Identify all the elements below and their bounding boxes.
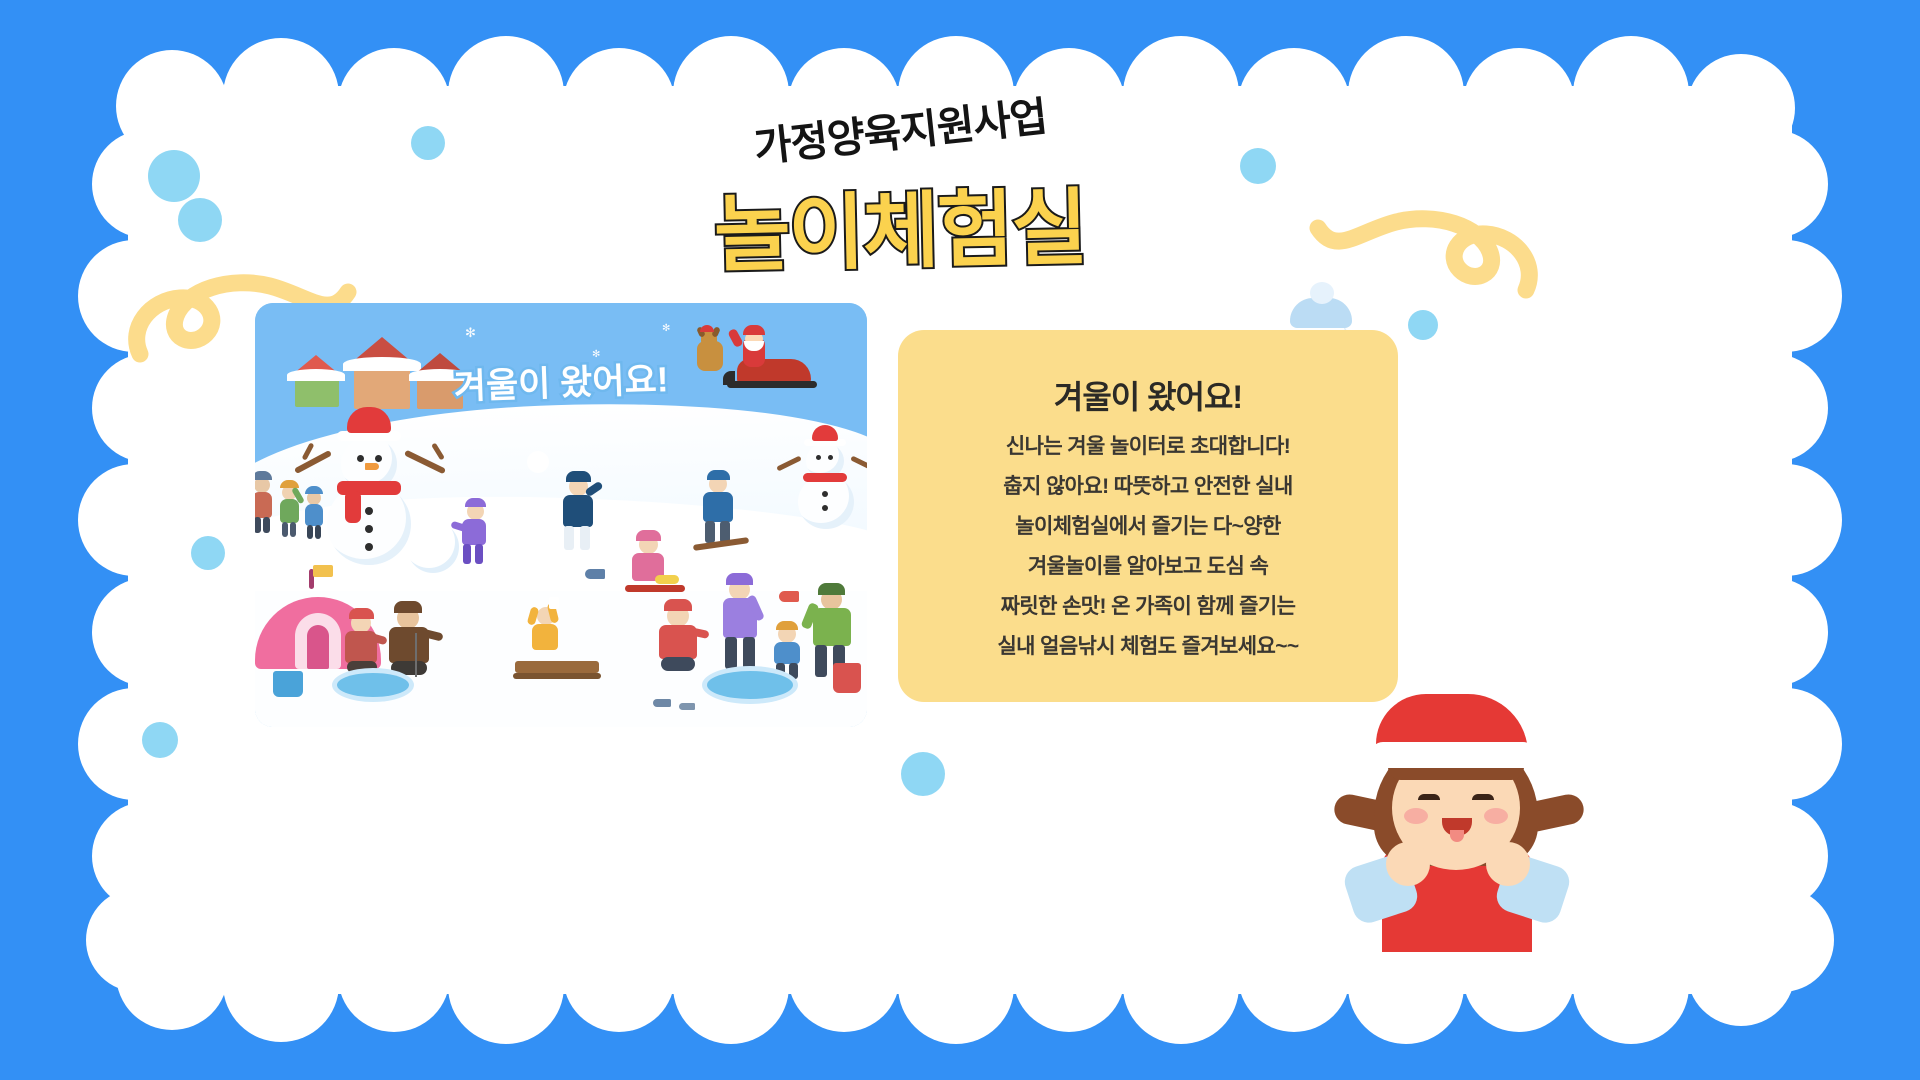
fish-icon [679,703,695,710]
person-icon [303,485,327,539]
person-ice-fishing [341,609,387,679]
panel-line: 겨울놀이를 알아보고 도심 속 [924,556,1372,577]
person-icon [255,471,275,533]
person-throwing-snowball [555,471,605,551]
panel-heading: 겨울이 왔어요! [924,372,1372,418]
santa-hat-brim [1370,742,1536,768]
person-sitting-sled [527,603,571,663]
person-rolling-snowball [451,501,495,567]
fishing-line [415,633,417,677]
ice-hole [707,671,793,699]
ice-hole [337,673,409,697]
panel-line: 신나는 겨울 놀이터로 초대합니다! [924,436,1372,457]
person-sledding [625,531,683,601]
fish-icon [653,699,671,707]
panel-line: 춥지 않아요! 따뜻하고 안전한 실내 [924,476,1372,497]
girl-cheek [1404,808,1428,824]
bucket-icon [833,663,861,693]
sled-runner [513,673,601,679]
girl-mascot [1330,690,1600,950]
panel-line: 실내 얼음낚시 체험도 즐겨보세요~~ [924,636,1372,657]
panel-line: 놀이체험실에서 즐기는 다~양한 [924,516,1372,537]
snowman-icon-small [790,433,862,533]
snowflake-icon: ✻ [662,323,670,334]
person-standing [715,575,765,671]
girl-cheek [1484,808,1508,824]
swirl-ribbon-right [1300,178,1540,308]
bucket-icon [273,671,303,697]
person-icon [277,479,303,537]
girl-eye [1418,794,1440,800]
sled-icon [515,661,599,673]
person-skiing [697,471,747,555]
girl-eye [1472,794,1494,800]
santa-sleigh-icon [697,323,827,395]
santa-hat-pom [1330,708,1374,750]
info-panel: 겨울이 왔어요! 신나는 겨울 놀이터로 초대합니다! 춥지 않아요! 따뜻하고… [898,330,1398,702]
winter-illustration: ✻ ✻ ✻ 겨울이 왔어요! [255,303,867,727]
decorative-dot [191,536,225,570]
decorative-dot [1408,310,1438,340]
fish-icon [779,591,799,602]
person-ice-fishing [383,603,443,681]
person-ice-fishing [655,601,711,677]
snowflake-icon: ✻ [465,325,476,341]
decorative-dot [1240,148,1276,184]
decorative-dot [142,722,178,758]
decorative-dot [411,126,445,160]
snowball [527,451,549,473]
snowball [407,521,459,573]
girl-hand [1386,842,1430,886]
decorative-dot [901,752,945,796]
decorative-dot [148,150,200,202]
person-child [769,621,805,679]
fish-icon [585,569,605,579]
girl-hand [1486,842,1530,886]
panel-line: 짜릿한 손맛! 온 가족이 함께 즐기는 [924,596,1372,617]
